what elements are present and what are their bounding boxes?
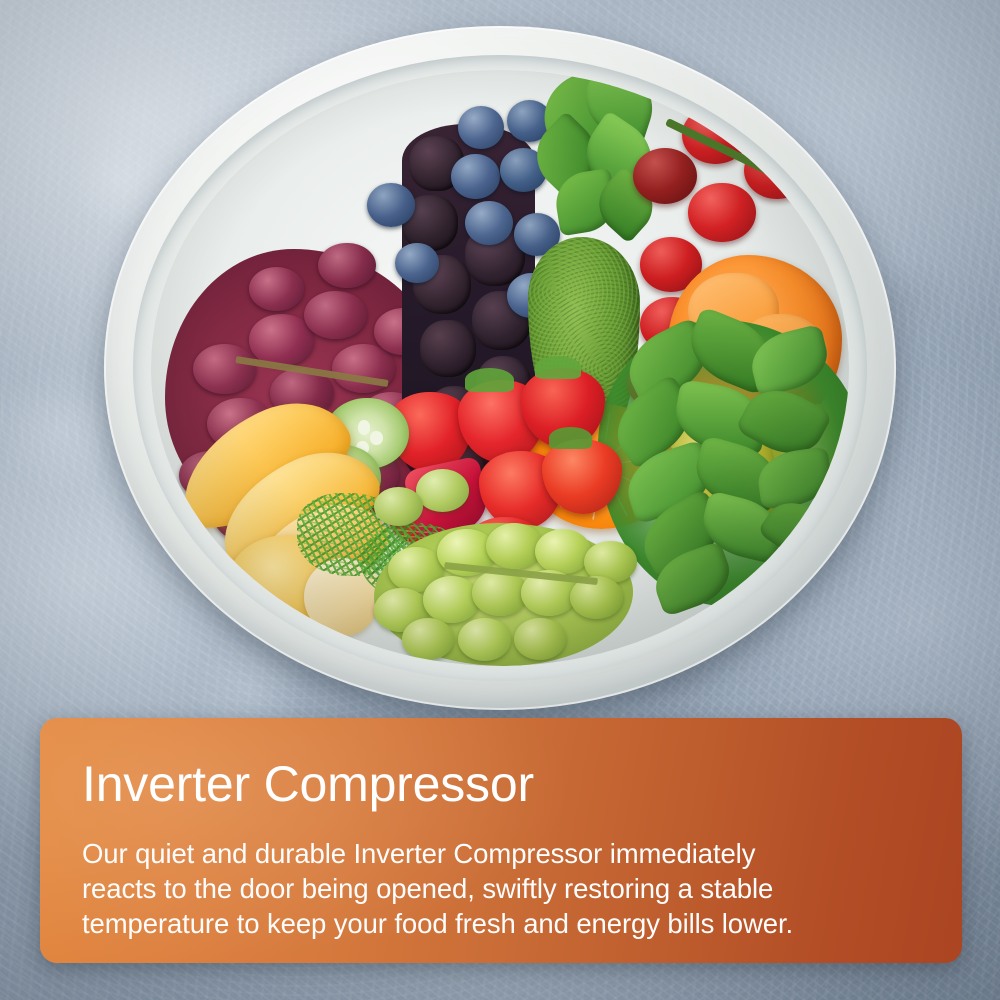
green-grape [458, 618, 511, 661]
strawberry-calyx [535, 356, 581, 379]
cucumber-seed [370, 431, 383, 445]
feature-caption-panel: Inverter Compressor Our quiet and durabl… [40, 718, 962, 963]
green-grape [423, 576, 480, 622]
green-grape [416, 469, 469, 512]
feature-title: Inverter Compressor [82, 758, 534, 810]
description-line-3: temperature to keep your food fresh and … [82, 906, 932, 941]
food-arrangement [151, 70, 849, 665]
product-feature-banner: Inverter Compressor Our quiet and durabl… [0, 0, 1000, 1000]
cherry-tomato [633, 148, 697, 204]
blackberry [420, 320, 476, 377]
feature-description: Our quiet and durable Inverter Compresso… [82, 836, 932, 941]
cucumber-seed [358, 420, 371, 434]
cherry-tomato [744, 142, 810, 199]
strawberry-calyx [465, 368, 514, 392]
blueberry [465, 201, 512, 245]
blueberry [367, 183, 414, 227]
fruit-bowl [104, 26, 896, 710]
description-line-1: Our quiet and durable Inverter Compresso… [82, 836, 932, 871]
blueberry [458, 106, 504, 149]
cherry-tomato [688, 183, 755, 241]
green-grape [535, 529, 591, 574]
description-line-2: reacts to the door being opened, swiftly… [82, 871, 932, 906]
green-grape [472, 570, 528, 615]
green-grape [402, 618, 454, 660]
strawberry-calyx [549, 427, 592, 448]
bowl-interior [133, 55, 868, 682]
blueberry [395, 243, 438, 283]
blueberry [451, 154, 500, 199]
green-grape [514, 618, 566, 660]
